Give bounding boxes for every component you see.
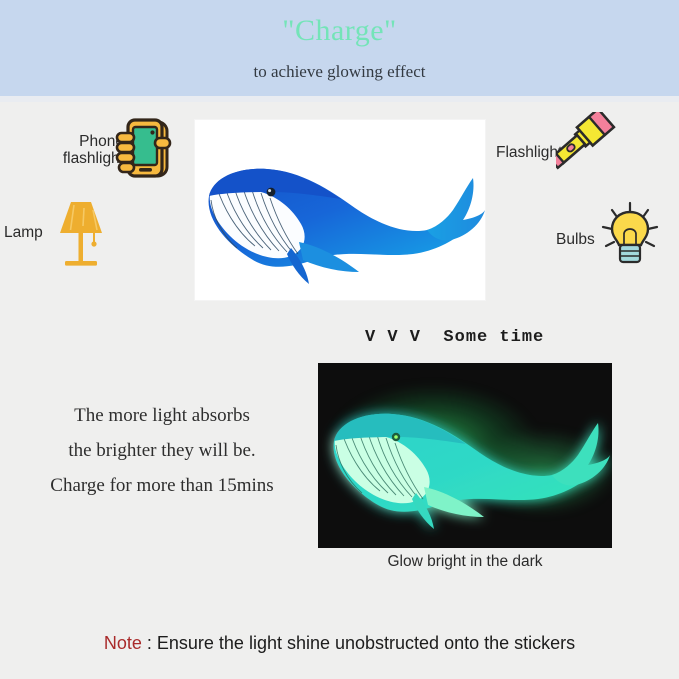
light-source-label-bulbs: Bulbs [556, 231, 598, 248]
light-source-label-flashlight: Flashlight [496, 144, 558, 161]
header-divider-strip [0, 96, 679, 102]
flashlight-icon [556, 112, 638, 198]
table-lamp-icon [53, 196, 109, 272]
dark-panel-caption: Glow bright in the dark [318, 553, 612, 571]
phone-in-hand-icon [113, 116, 179, 182]
whale-sticker-lit-photo [195, 120, 485, 300]
note-text: Ensure the light shine unobstructed onto… [157, 633, 575, 653]
note-separator: : [142, 633, 157, 653]
transition-label: V V V Some time [365, 328, 544, 347]
light-bulb-icon [598, 201, 662, 273]
absorb-line-2: the brighter they will be. [16, 433, 308, 468]
note-row: Note : Ensure the light shine unobstruct… [0, 633, 679, 654]
light-source-label-phone-flashlight: Phone flashlight [44, 133, 124, 167]
page-title: "Charge" [0, 14, 679, 48]
whale-sticker-glowing-photo [318, 363, 612, 548]
glowing-whale-illustration [318, 363, 612, 548]
absorb-description: The more light absorbs the brighter they… [16, 398, 308, 503]
light-source-label-lamp: Lamp [4, 224, 50, 241]
page-subtitle: to achieve glowing effect [0, 62, 679, 82]
infographic-canvas: "Charge" to achieve glowing effect Phone… [0, 0, 679, 679]
blue-whale-illustration [195, 120, 485, 300]
absorb-line-3: Charge for more than 15mins [16, 468, 308, 503]
absorb-line-1: The more light absorbs [16, 398, 308, 433]
note-keyword: Note [104, 633, 142, 653]
